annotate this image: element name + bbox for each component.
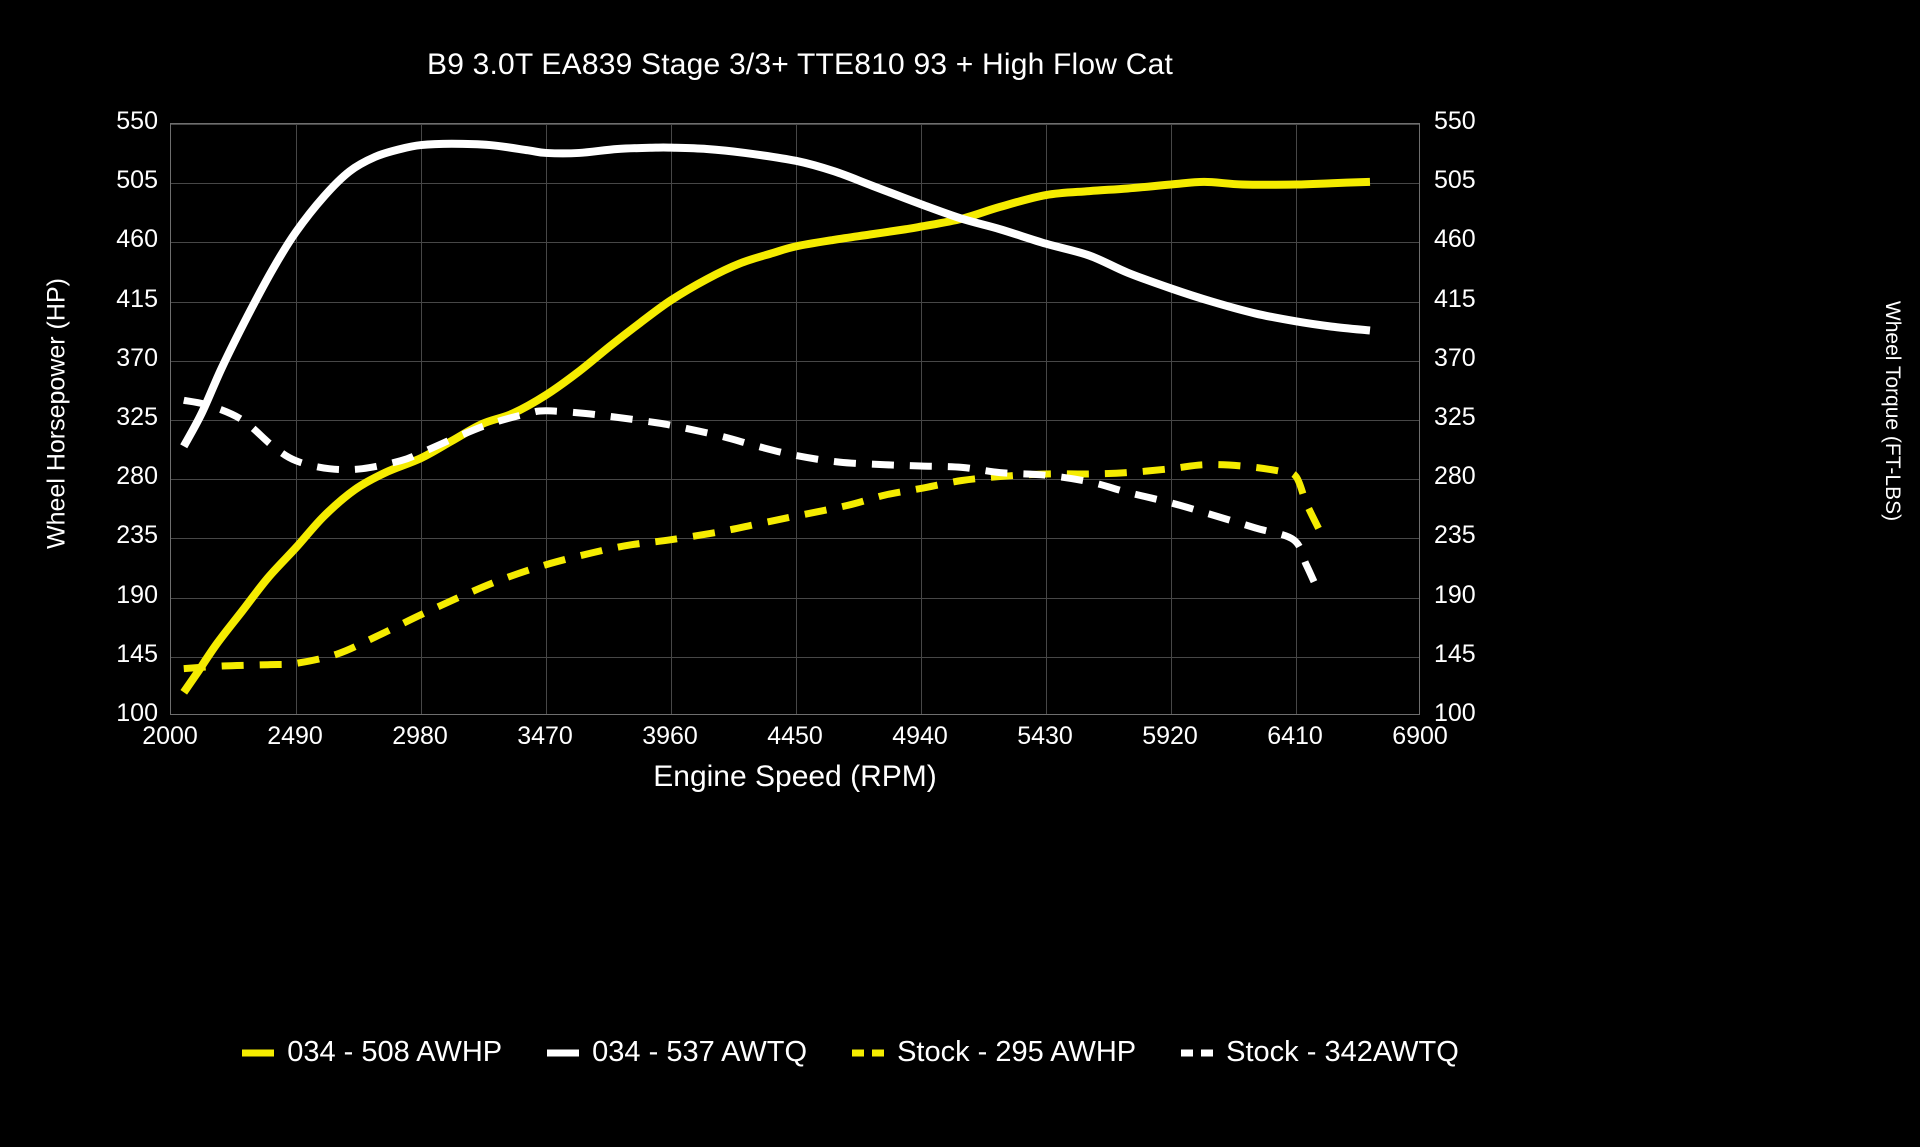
y-axis-right-tick-label: 235: [1434, 521, 1554, 550]
y-axis-right-tick-label: 460: [1434, 225, 1554, 254]
series-layer: [171, 124, 1420, 715]
y-axis-left-tick-label: 325: [38, 403, 158, 432]
legend-swatch-icon: [1180, 1042, 1214, 1064]
y-axis-left-tick-label: 190: [38, 581, 158, 610]
plot-area: [170, 123, 1420, 715]
legend-label: Stock - 295 AWHP: [897, 1036, 1136, 1069]
y-axis-left-tick-label: 280: [38, 462, 158, 491]
dyno-chart-root: B9 3.0T EA839 Stage 3/3+ TTE810 93 + Hig…: [0, 0, 1920, 1147]
y-axis-right-tick-label: 190: [1434, 581, 1554, 610]
series-line: [184, 182, 1370, 692]
chart-legend: 034 - 508 AWHP034 - 537 AWTQStock - 295 …: [0, 1036, 1700, 1069]
legend-item[interactable]: Stock - 342AWTQ: [1180, 1036, 1459, 1069]
y-axis-left-tick-label: 460: [38, 225, 158, 254]
series-line: [184, 144, 1370, 447]
y-axis-left-tick-label: 550: [38, 107, 158, 136]
legend-swatch-icon: [546, 1042, 580, 1064]
legend-label: Stock - 342AWTQ: [1226, 1036, 1459, 1069]
y-axis-left-tick-label: 145: [38, 640, 158, 669]
legend-swatch-icon: [851, 1042, 885, 1064]
chart-title: B9 3.0T EA839 Stage 3/3+ TTE810 93 + Hig…: [0, 48, 1600, 82]
legend-item[interactable]: Stock - 295 AWHP: [851, 1036, 1136, 1069]
legend-label: 034 - 508 AWHP: [287, 1036, 502, 1069]
y-axis-right-tick-label: 415: [1434, 285, 1554, 314]
y-axis-left-tick-label: 415: [38, 285, 158, 314]
y-axis-right-tick-label: 280: [1434, 462, 1554, 491]
y-axis-left-tick-label: 235: [38, 521, 158, 550]
y-axis-right-title: Wheel Torque (FT-LBS): [1880, 151, 1904, 671]
legend-item[interactable]: 034 - 537 AWTQ: [546, 1036, 807, 1069]
legend-swatch-icon: [241, 1042, 275, 1064]
legend-item[interactable]: 034 - 508 AWHP: [241, 1036, 502, 1069]
y-axis-right-tick-label: 145: [1434, 640, 1554, 669]
x-axis-title: Engine Speed (RPM): [170, 760, 1420, 794]
y-axis-right-tick-label: 325: [1434, 403, 1554, 432]
y-axis-right-tick-label: 505: [1434, 166, 1554, 195]
y-axis-right-tick-label: 370: [1434, 344, 1554, 373]
legend-label: 034 - 537 AWTQ: [592, 1036, 807, 1069]
y-axis-left-tick-label: 505: [38, 166, 158, 195]
x-axis-tick-label: 6900: [1340, 722, 1500, 751]
y-axis-right-tick-label: 550: [1434, 107, 1554, 136]
y-axis-left-tick-label: 370: [38, 344, 158, 373]
